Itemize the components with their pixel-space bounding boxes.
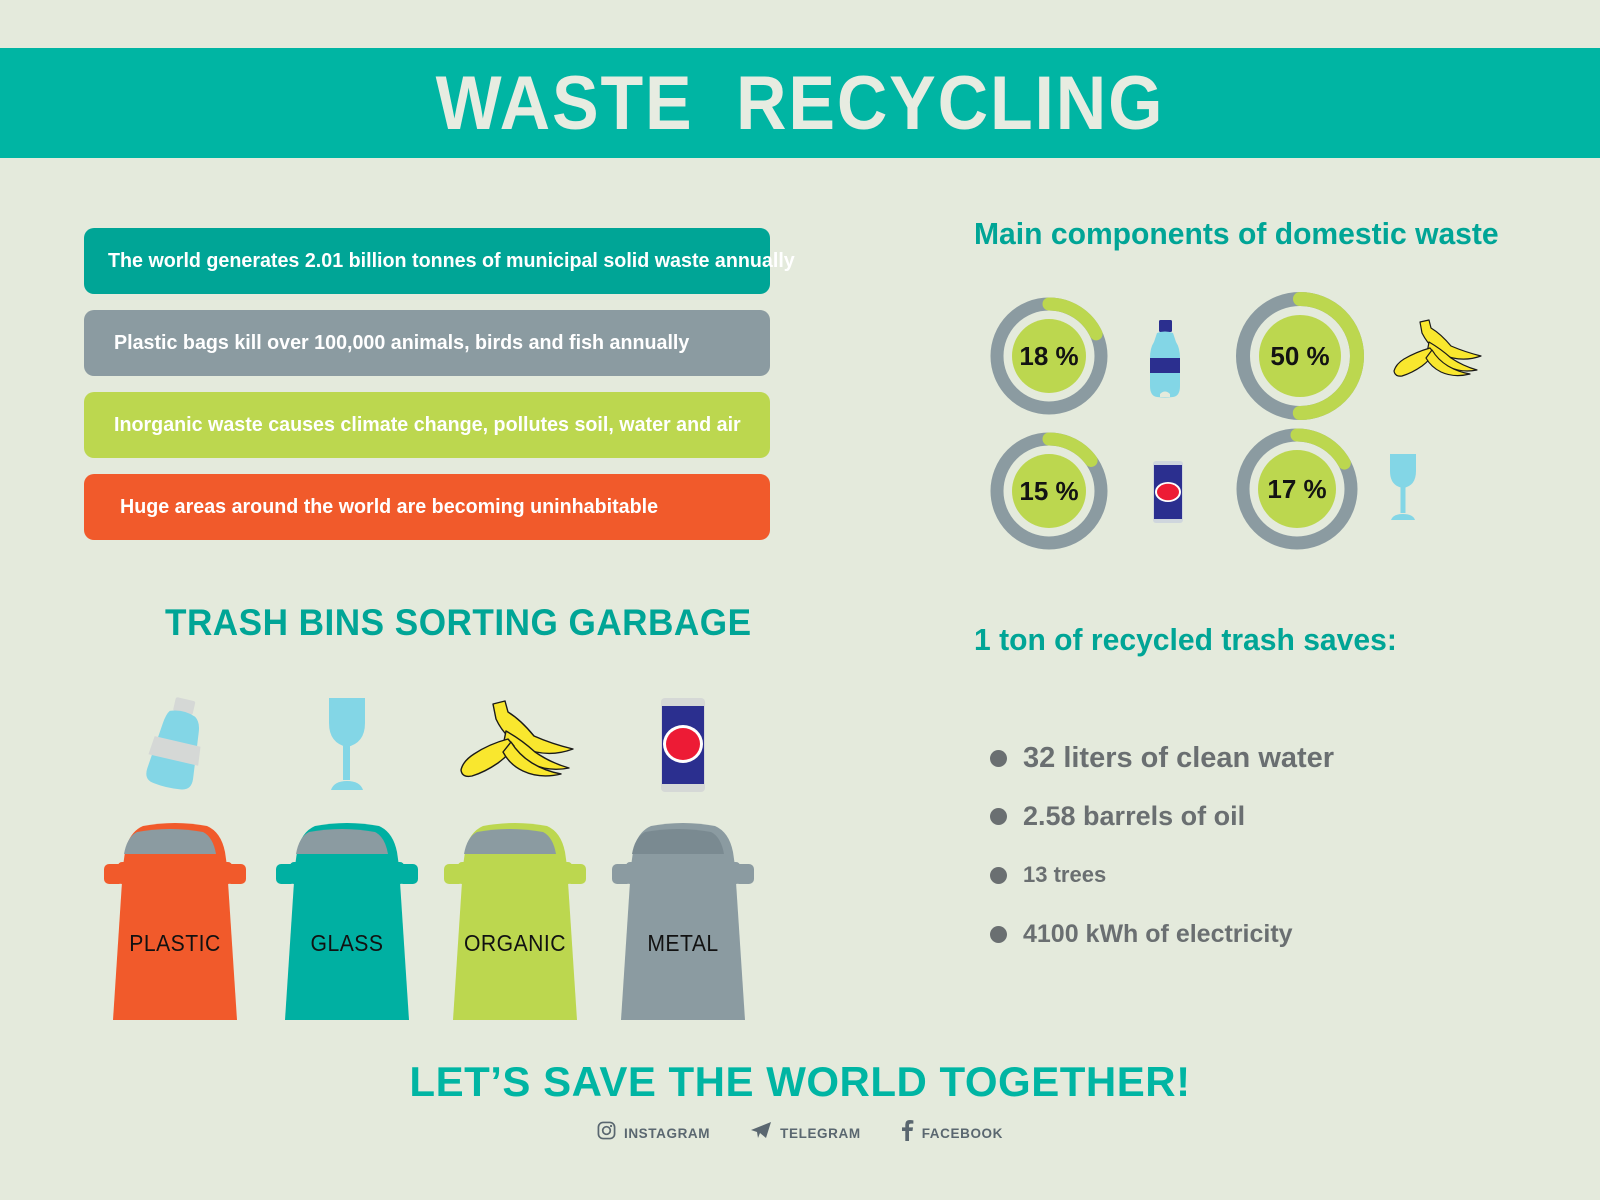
donut-chart-organic: 50 % <box>1230 286 1370 426</box>
bin-body-plastic: PLASTIC <box>100 810 250 1025</box>
savings-label: 13 trees <box>1023 862 1106 888</box>
plastic-bottle-icon <box>1143 320 1187 403</box>
list-item: 32 liters of clean water <box>990 742 1510 775</box>
donut-chart-plastic: 18 % <box>985 292 1113 420</box>
page-title: WASTE RECYCLING <box>436 60 1165 147</box>
banana-peel-icon <box>440 686 590 796</box>
donut-value-plastic: 18 % <box>985 292 1113 420</box>
bin-label-glass: GLASS <box>278 930 416 957</box>
bullet-icon <box>990 867 1007 884</box>
header-banner: WASTE RECYCLING <box>0 48 1600 158</box>
social-label-instagram: INSTAGRAM <box>624 1126 710 1141</box>
facebook-icon <box>901 1120 914 1146</box>
trash-bin-group: PLASTIC GLASS <box>100 686 780 1016</box>
savings-label: 2.58 barrels of oil <box>1023 801 1245 832</box>
soda-can-icon <box>1147 459 1189 530</box>
social-link-facebook[interactable]: FACEBOOK <box>901 1120 1003 1146</box>
plastic-bottle-icon <box>100 686 250 796</box>
social-label-facebook: FACEBOOK <box>922 1126 1003 1141</box>
social-link-telegram[interactable]: TELEGRAM <box>750 1121 861 1145</box>
fact-bar-label: Plastic bags kill over 100,000 animals, … <box>114 331 689 355</box>
donut-value-glass: 17 % <box>1230 422 1364 556</box>
donut-chart-group: 18 % 50 % <box>985 292 1485 562</box>
savings-label: 32 liters of clean water <box>1023 742 1334 775</box>
components-section-title: Main components of domestic waste <box>974 216 1499 252</box>
trash-bin-glass[interactable]: GLASS <box>272 686 422 1025</box>
fact-bar: Plastic bags kill over 100,000 animals, … <box>84 310 770 376</box>
savings-list: 32 liters of clean water 2.58 barrels of… <box>990 742 1510 975</box>
telegram-icon <box>750 1121 772 1145</box>
social-label-telegram: TELEGRAM <box>780 1126 861 1141</box>
bullet-icon <box>990 926 1007 943</box>
trash-bin-organic[interactable]: ORGANIC <box>440 686 590 1025</box>
donut-value-organic: 50 % <box>1230 286 1370 426</box>
fact-bar-list: The world generates 2.01 billion tonnes … <box>84 228 770 556</box>
bullet-icon <box>990 808 1007 825</box>
bin-body-organic: ORGANIC <box>440 810 590 1025</box>
savings-section-title: 1 ton of recycled trash saves: <box>974 622 1397 658</box>
donut-chart-glass: 17 % <box>1230 422 1364 556</box>
infographic-page: WASTE RECYCLING The world generates 2.01… <box>0 0 1600 1200</box>
wine-glass-icon <box>1382 452 1424 529</box>
trash-bin-plastic[interactable]: PLASTIC <box>100 686 250 1025</box>
fact-bar-label: Inorganic waste causes climate change, p… <box>114 413 741 437</box>
bin-body-glass: GLASS <box>272 810 422 1025</box>
fact-bar: The world generates 2.01 billion tonnes … <box>84 228 770 294</box>
wine-glass-icon <box>272 686 422 796</box>
footer-slogan: LET’S SAVE THE WORLD TOGETHER! <box>0 1058 1600 1106</box>
donut-value-metal: 15 % <box>985 427 1113 555</box>
fact-bar: Inorganic waste causes climate change, p… <box>84 392 770 458</box>
social-links: INSTAGRAM TELEGRAM FACEBOOK <box>0 1120 1600 1146</box>
fact-bar-label: Huge areas around the world are becoming… <box>120 495 658 519</box>
social-link-instagram[interactable]: INSTAGRAM <box>597 1121 710 1145</box>
list-item: 4100 kWh of electricity <box>990 920 1510 949</box>
trash-bin-metal[interactable]: METAL <box>608 686 758 1025</box>
bin-body-metal: METAL <box>608 810 758 1025</box>
list-item: 2.58 barrels of oil <box>990 801 1510 832</box>
bins-section-title: TRASH BINS SORTING GARBAGE <box>165 602 751 644</box>
savings-label: 4100 kWh of electricity <box>1023 920 1293 949</box>
donut-chart-metal: 15 % <box>985 427 1113 555</box>
bullet-icon <box>990 750 1007 767</box>
banana-peel-icon <box>1388 316 1484 393</box>
instagram-icon <box>597 1121 616 1145</box>
list-item: 13 trees <box>990 862 1510 888</box>
bin-label-plastic: PLASTIC <box>106 930 244 957</box>
fact-bar: Huge areas around the world are becoming… <box>84 474 770 540</box>
bin-label-metal: METAL <box>614 930 752 957</box>
bin-label-organic: ORGANIC <box>446 930 584 957</box>
soda-can-icon <box>608 686 758 796</box>
fact-bar-label: The world generates 2.01 billion tonnes … <box>108 249 795 273</box>
